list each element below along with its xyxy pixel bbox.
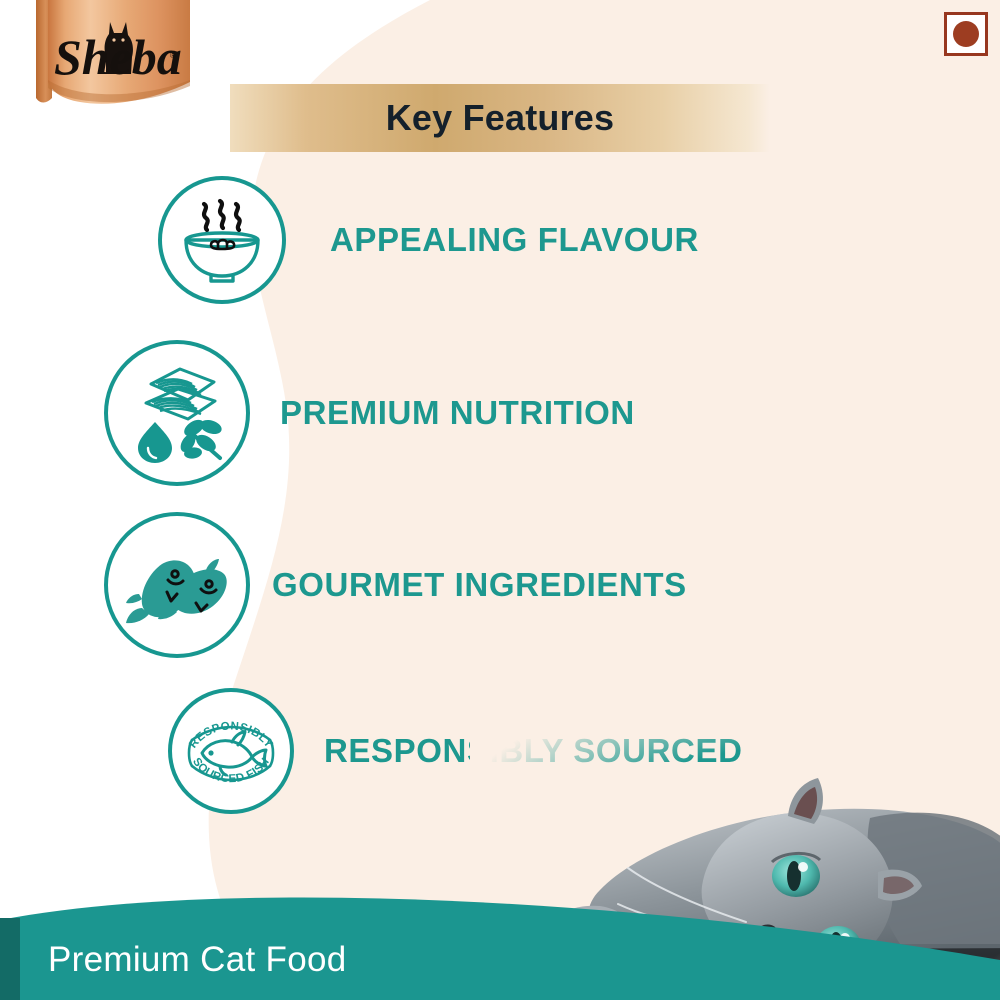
brand-logo: Sheba ® bbox=[18, 0, 208, 120]
badge-top-text: RESPONSIBLY bbox=[187, 720, 275, 750]
responsibly-sourced-fish-badge-icon: RESPONSIBLY SOURCED FISH bbox=[168, 688, 294, 814]
two-fish-icon bbox=[104, 512, 250, 658]
feature-label: GOURMET INGREDIENTS bbox=[272, 566, 687, 604]
svg-text:RESPONSIBLY: RESPONSIBLY bbox=[187, 720, 275, 750]
steaming-bowl-icon bbox=[158, 176, 286, 304]
fish-fillet-droplet-herb-icon bbox=[104, 340, 250, 486]
feature-item-premium-nutrition: PREMIUM NUTRITION bbox=[104, 340, 635, 486]
feature-item-appealing-flavour: APPEALING FLAVOUR bbox=[158, 176, 699, 304]
feature-label: APPEALING FLAVOUR bbox=[330, 221, 699, 259]
feature-label: PREMIUM NUTRITION bbox=[280, 394, 635, 432]
non-vegetarian-mark bbox=[944, 12, 988, 56]
footer-bar: Premium Cat Food bbox=[0, 882, 1000, 1000]
badge-bottom-text: SOURCED FISH bbox=[190, 756, 272, 785]
brand-wordmark: Sheba bbox=[54, 29, 182, 85]
non-veg-dot-icon bbox=[953, 21, 979, 47]
svg-text:®: ® bbox=[170, 51, 176, 60]
key-features-banner: Key Features bbox=[230, 84, 770, 152]
feature-item-gourmet-ingredients: GOURMET INGREDIENTS bbox=[104, 512, 687, 658]
footer-tagline: Premium Cat Food bbox=[48, 940, 347, 980]
page-title: Key Features bbox=[386, 97, 615, 139]
infographic-canvas: Sheba ® Key Features bbox=[0, 0, 1000, 1000]
svg-text:SOURCED FISH: SOURCED FISH bbox=[190, 756, 272, 785]
